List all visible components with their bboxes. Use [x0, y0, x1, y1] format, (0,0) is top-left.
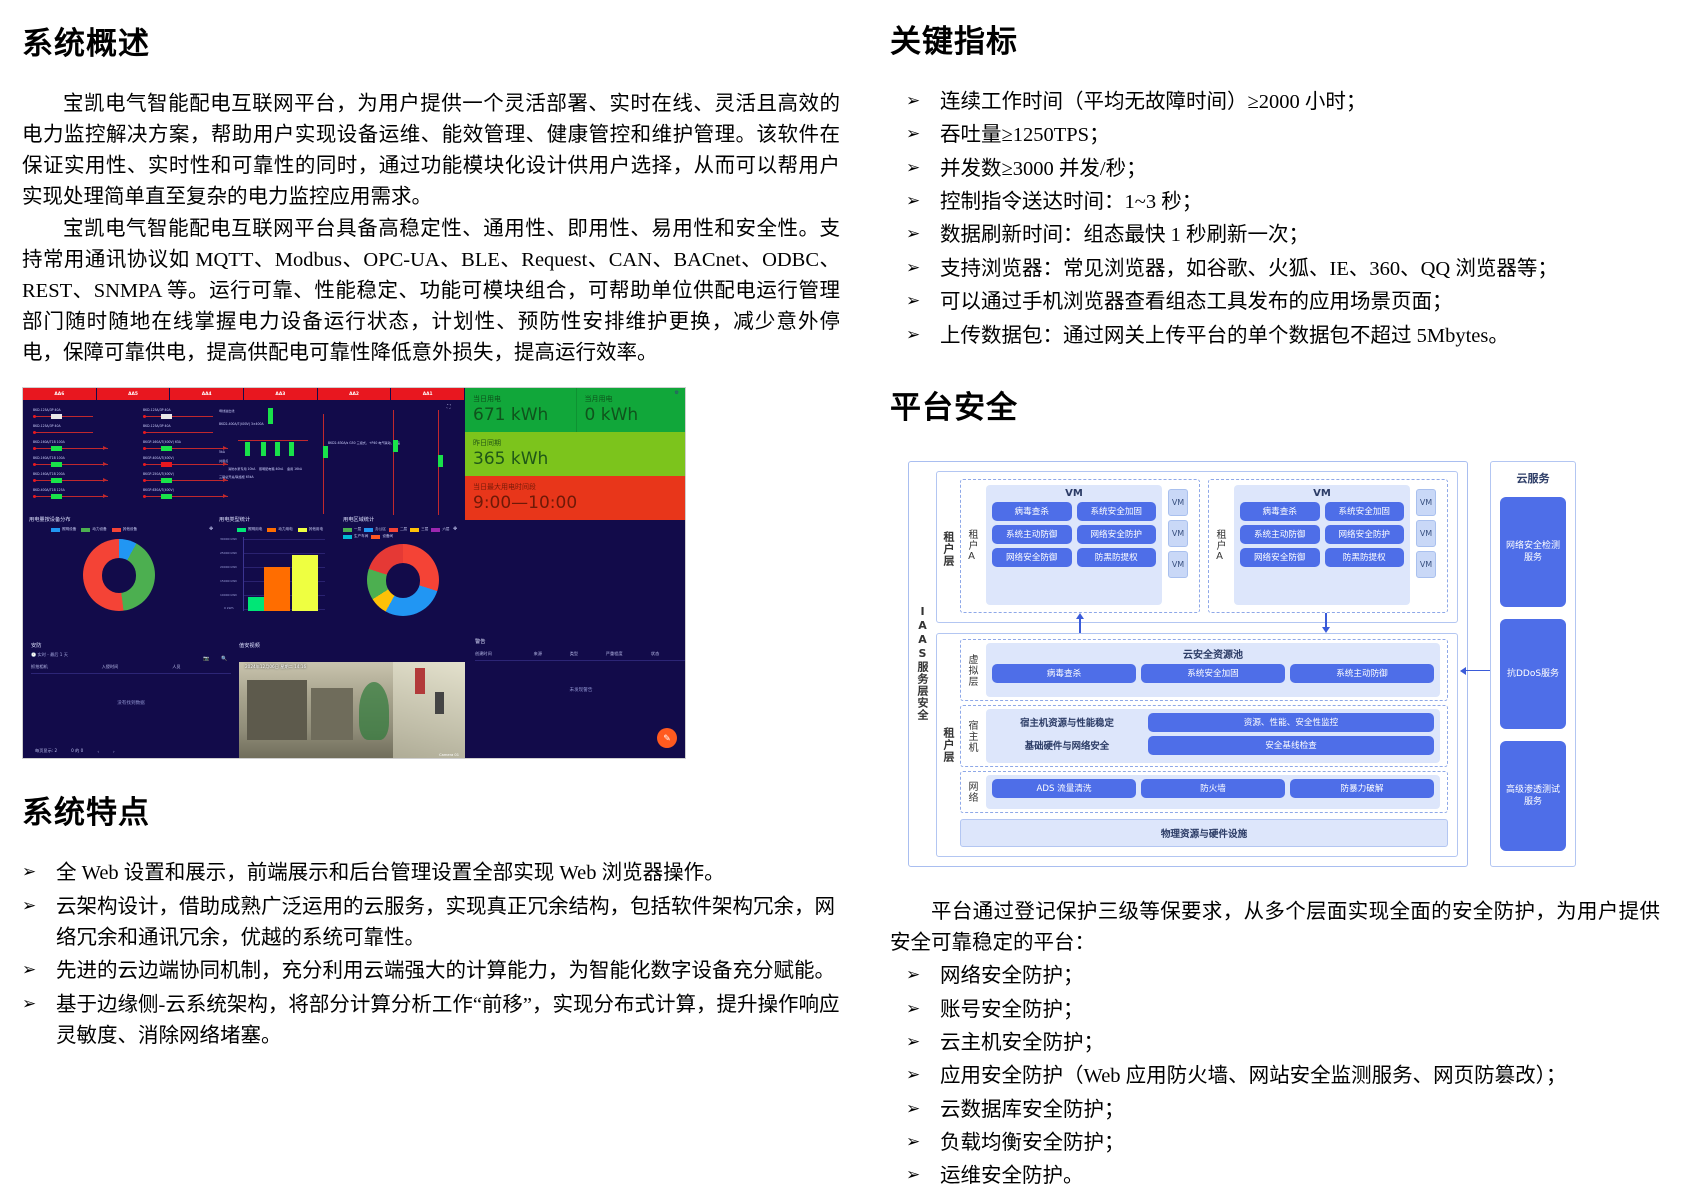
- tenant-layer-label: 租户层: [940, 501, 956, 597]
- diagram-note: 照明配电箱 40kA: [259, 466, 283, 471]
- cabinet-label: AA4: [170, 388, 244, 400]
- y-tick: 30000 kWh: [220, 537, 237, 541]
- left-column: 系统概述 宝凯电气智能配电互联网平台，为用户提供一个灵活部署、实时在线、灵活且高…: [0, 0, 880, 1123]
- table-header: 创建时间 来源 类型 严重程度 状态: [475, 651, 686, 661]
- bullet-arrow-icon: ➢: [22, 956, 56, 986]
- alarm-panel: 警告 创建时间 来源 类型 严重程度 状态 未发现警告: [475, 638, 686, 693]
- chip-system-hardening[interactable]: 系统安全加固: [1325, 502, 1405, 521]
- stat-card-today-usage: 当日用电 671 kWh: [465, 388, 577, 432]
- security-paragraph: 平台通过登记保护三级等保要求，从多个层面实现全面的安全防护，为用户提供安全可靠稳…: [890, 897, 1660, 959]
- single-line-diagram: AA6 AA5 AA4 AA3 AA2 AA1 BKD-125A/3P 40A …: [23, 388, 465, 638]
- chip-virus-scan[interactable]: 病毒查杀: [992, 502, 1072, 521]
- empty-state: 没有找到数据: [31, 700, 231, 706]
- camera-feed[interactable]: 2024年12月06日 星期二 14:16 Camera 01: [239, 662, 465, 759]
- cloud-card-penetration-testing[interactable]: 高级渗透测试服务: [1500, 741, 1566, 851]
- chip-anti-brute-force[interactable]: 防暴力破解: [1290, 779, 1434, 798]
- legend-item: 六层: [431, 527, 449, 532]
- dashboard-lower: 安防 🕐 实时 - 最后 1 天 抓拍相机 入侵时间 人员 没有找到数据 📷 🔍…: [23, 638, 686, 759]
- next-page-icon[interactable]: ›: [113, 749, 115, 754]
- list-item: ➢支持浏览器：常见浏览器，如谷歌、火狐、IE、360、QQ 浏览器等；: [906, 254, 1660, 285]
- list-item: ➢控制指令送达时间：1~3 秒；: [906, 187, 1660, 218]
- list-item: ➢上传数据包：通过网关上传平台的单个数据包不超过 5Mbytes。: [906, 321, 1660, 352]
- list-item: ➢云数据库安全防护；: [906, 1095, 1660, 1126]
- physical-infrastructure-bar: 物理资源与硬件设施: [960, 819, 1448, 847]
- table-header: 抓拍相机 入侵时间 人员: [31, 664, 231, 674]
- y-tick: 0 kWh: [224, 606, 233, 610]
- drag-handle-icon[interactable]: ✥: [209, 526, 213, 532]
- feeder-label: BKD-160A/T1B 100A: [33, 456, 65, 460]
- sld-body: BKD-125A/3P 40A BKD-125A/3P 40A BKD-160A…: [23, 400, 465, 518]
- page-title-overview: 系统概述: [22, 18, 840, 63]
- bullet-arrow-icon: ➢: [906, 321, 940, 351]
- chip-network-protection[interactable]: 网络安全防护: [1077, 525, 1157, 544]
- bullet-arrow-icon: ➢: [22, 892, 56, 922]
- bullet-arrow-icon: ➢: [906, 1128, 940, 1158]
- diagram-note: 三路总开关/联络柜 65kA: [219, 474, 254, 479]
- list-item: ➢可以通过手机浏览器查看组态工具发布的应用场景页面；: [906, 287, 1660, 318]
- list-item: ➢并发数≥3000 并发/秒；: [906, 154, 1660, 185]
- feeder-label: BKD-125A/3P 40A: [33, 424, 61, 428]
- chip-anti-privilege-escalation[interactable]: 防黑防提权: [1077, 548, 1157, 567]
- bullet-arrow-icon: ➢: [906, 187, 940, 217]
- chip-network-defense[interactable]: 网络安全防御: [992, 548, 1072, 567]
- overview-paragraph-2: 宝凯电气智能配电互联网平台具备高稳定性、通用性、即用性、易用性和安全性。支持常用…: [22, 214, 840, 370]
- vm-strip-right: VM VM VM: [1416, 489, 1436, 578]
- panel-subtitle: 🕐 实时 - 最后 1 天: [31, 652, 231, 658]
- bullet-arrow-icon: ➢: [906, 1161, 940, 1191]
- vm-card-left: VM 病毒查杀 系统安全加固 系统主动防御 网络安全防护 网络安全防御 防黑防提…: [986, 485, 1162, 605]
- bullet-arrow-icon: ➢: [906, 995, 940, 1025]
- vm-card-right: VM 病毒查杀 系统安全加固 系统主动防御 网络安全防护 网络安全防御 防黑防提…: [1234, 485, 1410, 605]
- feeder-label: BKGP-630A/T(400V): [143, 488, 174, 492]
- list-item: ➢数据刷新时间：组态最快 1 秒刷新一次；: [906, 220, 1660, 251]
- vm-title: VM: [1065, 488, 1083, 499]
- chip-network-defense[interactable]: 网络安全防御: [1240, 548, 1320, 567]
- diagram-note: 备用 16kA: [287, 466, 302, 471]
- chart-title: 用电区域统计: [343, 516, 463, 523]
- pagination[interactable]: 每页显示: 2 0 的 0 ‹ ›: [35, 748, 115, 754]
- search-icon[interactable]: 🔍: [221, 656, 227, 662]
- bar-power: [264, 567, 290, 611]
- legend-item: 其他用电: [298, 527, 323, 532]
- host-layer-label: 宿主机: [964, 711, 979, 763]
- stat-card-peak-period: 当日最大用电时间段 9:00—10:00: [465, 476, 686, 520]
- host-label: 宿主机资源与性能稳定: [992, 715, 1142, 729]
- cloud-card-network-security-detection[interactable]: 网络安全检测服务: [1500, 497, 1566, 607]
- chip-active-defense[interactable]: 系统主动防御: [1290, 664, 1434, 683]
- tenant-layer-label-2: 租户层: [940, 715, 956, 775]
- security-list: ➢网络安全防护； ➢账号安全防护； ➢云主机安全防护； ➢应用安全防护（Web …: [906, 961, 1660, 1193]
- legend-item: 动力设备: [81, 527, 106, 532]
- virtual-layer-label: 虚拟层: [964, 649, 979, 693]
- vm-title: VM: [1313, 488, 1331, 499]
- legend-item: 照明用电: [237, 527, 262, 532]
- cabinet-label: AA1: [391, 388, 465, 400]
- prev-page-icon[interactable]: ‹: [97, 749, 99, 754]
- legend-item: 办公区: [364, 527, 386, 532]
- chip-anti-privilege-escalation[interactable]: 防黑防提权: [1325, 548, 1405, 567]
- vm-small[interactable]: VM: [1416, 520, 1436, 547]
- legend-item: 二层: [389, 527, 407, 532]
- host-box: 宿主机资源与性能稳定 资源、性能、安全性监控 基础硬件与网络安全 安全基线检查: [986, 709, 1440, 763]
- feeder-label: BKGP-400A/T(400V): [143, 456, 174, 460]
- empty-state: 未发现警告: [475, 687, 686, 693]
- bullet-arrow-icon: ➢: [906, 1061, 940, 1091]
- bullet-arrow-icon: ➢: [906, 254, 940, 284]
- legend-item: 三层: [410, 527, 428, 532]
- list-item: ➢运维安全防护。: [906, 1161, 1660, 1192]
- feeder-label: BKD-160A/T1B 100A: [33, 440, 65, 444]
- features-list: ➢全 Web 设置和展示，前端展示和后台管理设置全部实现 Web 浏览器操作。 …: [22, 858, 840, 1052]
- list-item: ➢吞吐量≥1250TPS；: [906, 120, 1660, 151]
- page-title-kpi: 关键指标: [890, 16, 1660, 61]
- bullet-arrow-icon: ➢: [906, 87, 940, 117]
- host-label: 基础硬件与网络安全: [992, 738, 1142, 752]
- vm-small[interactable]: VM: [1416, 551, 1436, 578]
- chip-active-defense[interactable]: 系统主动防御: [1240, 525, 1320, 544]
- y-tick: 10000 kWh: [220, 593, 237, 597]
- kpi-list: ➢连续工作时间（平均无故障时间）≥2000 小时； ➢吞吐量≥1250TPS； …: [906, 87, 1660, 352]
- diagram-note: 消防水泵专用 10kA: [228, 466, 255, 471]
- chip-resource-monitoring[interactable]: 资源、性能、安全性监控: [1148, 713, 1434, 732]
- cabinet-header-row: AA6 AA5 AA4 AA3 AA2 AA1: [23, 388, 465, 400]
- chip-system-hardening[interactable]: 系统安全加固: [1077, 502, 1157, 521]
- chip-virus-scan[interactable]: 病毒查杀: [1240, 502, 1320, 521]
- y-tick: 20000 kWh: [220, 565, 237, 569]
- feeder-label: BKD-125A/3P 40A: [143, 408, 171, 412]
- bullet-arrow-icon: ➢: [22, 990, 56, 1020]
- y-tick: 25000 kWh: [220, 551, 237, 555]
- stat-card-yesterday-same-period: 昨日同期 365 kWh: [465, 432, 686, 476]
- drag-handle-icon[interactable]: ✥: [453, 526, 457, 532]
- stat-card-month-usage: 当月用电 0 kWh: [577, 388, 687, 432]
- camera-icon[interactable]: 📷: [203, 656, 209, 662]
- feeder-label: BKD-400A/T1B 125A: [33, 488, 65, 492]
- dashboard-screenshot: AA6 AA5 AA4 AA3 AA2 AA1 BKD-125A/3P 40A …: [22, 387, 686, 759]
- diagram-note: 共用点: [219, 458, 228, 463]
- network-layer-label: 网络: [964, 775, 979, 809]
- list-item: ➢云主机安全防护；: [906, 1028, 1660, 1059]
- cloud-services-title: 云服务: [1491, 470, 1575, 486]
- tenant-a-label-right: 租户A: [1212, 511, 1227, 581]
- legend-item: 设备间: [371, 534, 393, 539]
- vm-small[interactable]: VM: [1168, 489, 1188, 516]
- iaas-service-layer-label: IAAS服务层安全: [912, 483, 932, 843]
- bullet-arrow-icon: ➢: [906, 220, 940, 250]
- list-item: ➢网络安全防护；: [906, 961, 1660, 992]
- vm-small[interactable]: VM: [1416, 489, 1436, 516]
- bullet-arrow-icon: ➢: [906, 1028, 940, 1058]
- bullet-arrow-icon: ➢: [906, 120, 940, 150]
- cloud-card-anti-ddos[interactable]: 抗DDoS服务: [1500, 619, 1566, 729]
- y-tick: 15000 kWh: [220, 579, 237, 583]
- page-title-features: 系统特点: [22, 787, 840, 832]
- list-item: ➢连续工作时间（平均无故障时间）≥2000 小时；: [906, 87, 1660, 118]
- edit-fab-button[interactable]: ✎: [657, 728, 677, 748]
- legend-item: 其他设备: [112, 527, 137, 532]
- donut-chart-device-distribution: [83, 539, 155, 611]
- camera-tag: Camera 01: [439, 753, 459, 757]
- chip-system-hardening[interactable]: 系统安全加固: [1141, 664, 1285, 683]
- feeder-label: BKGP-250A/T(400V): [143, 472, 174, 476]
- network-box: ADS 流量清洗 防火墙 防暴力破解: [986, 775, 1440, 809]
- feeder-label: BKD-160A/T1B 200A: [33, 472, 65, 476]
- cabinet-label: AA2: [318, 388, 392, 400]
- host-row: 基础硬件与网络安全 安全基线检查: [992, 736, 1434, 755]
- panel-title-alarm: 警告: [475, 638, 686, 645]
- chip-ads-traffic-cleaning[interactable]: ADS 流量清洗: [992, 779, 1136, 798]
- feeder-label: BKD-125A/3P 40A: [143, 424, 171, 428]
- chip-network-protection[interactable]: 网络安全防护: [1325, 525, 1405, 544]
- bullet-arrow-icon: ➢: [22, 858, 56, 888]
- tenant-a-label-left: 租户A: [964, 511, 979, 581]
- pool-title: 云安全资源池: [992, 646, 1434, 661]
- bullet-arrow-icon: ➢: [906, 961, 940, 991]
- legend-item: 一层: [343, 527, 361, 532]
- list-item: ➢账号安全防护；: [906, 995, 1660, 1026]
- bullet-arrow-icon: ➢: [906, 1095, 940, 1125]
- cabinet-label: AA6: [23, 388, 97, 400]
- charts-row: 用电量按设备分布 照明设备 动力设备 其他设备 用电类型统计 照明用电: [23, 516, 465, 638]
- chip-virus-scan[interactable]: 病毒查杀: [992, 664, 1136, 683]
- list-item: ➢应用安全防护（Web 应用防火墙、网站安全监测服务、网页防篡改）；: [906, 1061, 1660, 1092]
- chart-title: 用电类型统计: [219, 516, 329, 523]
- vm-small[interactable]: VM: [1168, 551, 1188, 578]
- diagram-note: BKD2-630A/s G50 三级式，+P40 电气联动、产品: [328, 440, 400, 445]
- bar-other: [292, 555, 318, 611]
- bullet-arrow-icon: ➢: [906, 154, 940, 184]
- stat-cards: 当日用电 671 kWh 当月用电 0 kWh 昨日同期 365 kWh 当日最…: [465, 388, 686, 526]
- security-architecture-diagram: IAAS服务层安全 租户层 租户A VM 病毒查杀 系统安全加固 系统主动防御 …: [890, 453, 1590, 883]
- bullet-arrow-icon: ➢: [906, 287, 940, 317]
- diagram-note: BKD2-400A/T(400V) 3×400A: [219, 422, 264, 426]
- vm-small[interactable]: VM: [1168, 520, 1188, 547]
- overview-paragraph-1: 宝凯电气智能配电互联网平台，为用户提供一个灵活部署、实时在线、灵活且高效的电力监…: [22, 89, 840, 214]
- chip-active-defense[interactable]: 系统主动防御: [992, 525, 1072, 544]
- chart-title: 用电量按设备分布: [29, 516, 209, 523]
- feeder-label: BKD-125A/3P 40A: [33, 408, 61, 412]
- per-page-label: 每页显示: 2: [35, 748, 57, 754]
- range-label: 0 的 0: [71, 748, 83, 754]
- diagram-note: 5kA: [219, 450, 225, 454]
- list-item: ➢基于边缘侧-云系统架构，将部分计算分析工作“前移”，实现分布式计算，提升操作响…: [22, 990, 840, 1053]
- panel-title-video: 值安视频: [239, 642, 465, 649]
- feeder-label: BKGP-160A/T(400V) 63A: [143, 440, 181, 444]
- donut-chart-area-distribution: [367, 544, 439, 616]
- legend-item: 照明设备: [51, 527, 76, 532]
- video-timestamp: 2024年12月06日 星期二 14:16: [245, 664, 306, 670]
- cloud-security-resource-pool: 云安全资源池 病毒查杀 系统安全加固 系统主动防御: [986, 643, 1440, 697]
- list-item: ➢全 Web 设置和展示，前端展示和后台管理设置全部实现 Web 浏览器操作。: [22, 858, 840, 889]
- chip-security-baseline-check[interactable]: 安全基线检查: [1148, 736, 1434, 755]
- panel-title-security: 安防: [31, 642, 231, 649]
- legend-item: 动力用电: [267, 527, 292, 532]
- list-item: ➢负载均衡安全防护；: [906, 1128, 1660, 1159]
- host-row: 宿主机资源与性能稳定 资源、性能、安全性监控: [992, 713, 1434, 732]
- legend-item: 生产车间: [343, 534, 368, 539]
- settings-icon[interactable]: ⚙: [675, 390, 679, 396]
- right-column: 关键指标 ➢连续工作时间（平均无故障时间）≥2000 小时； ➢吞吐量≥1250…: [880, 0, 1700, 1123]
- cabinet-label: AA3: [244, 388, 318, 400]
- vm-strip-left: VM VM VM: [1168, 489, 1188, 578]
- cabinet-label: AA5: [97, 388, 171, 400]
- fullscreen-icon[interactable]: ⛶: [447, 404, 451, 410]
- chip-firewall[interactable]: 防火墙: [1141, 779, 1285, 798]
- slide-page: 系统概述 宝凯电气智能配电互联网平台，为用户提供一个灵活部署、实时在线、灵活且高…: [0, 0, 1700, 1123]
- list-item: ➢先进的云边端协同机制，充分利用云端强大的计算能力，为智能化数字设备充分赋能。: [22, 956, 840, 987]
- page-title-platform-security: 平台安全: [890, 382, 1660, 427]
- list-item: ➢云架构设计，借助成熟广泛运用的云服务，实现真正冗余结构，包括软件架构冗余，网络…: [22, 892, 840, 955]
- diagram-note: 母线进出线: [219, 408, 234, 413]
